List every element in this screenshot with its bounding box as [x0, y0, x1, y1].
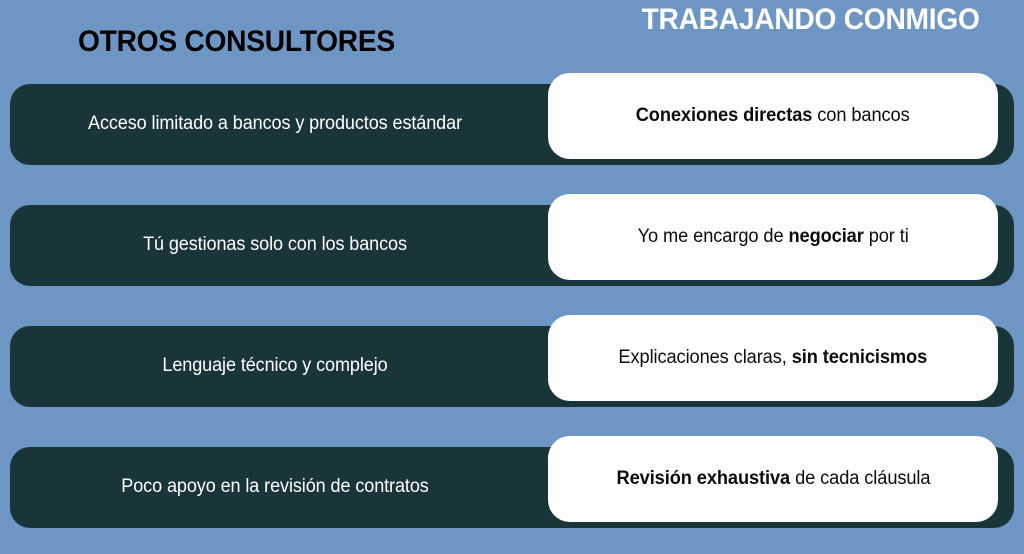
comparison-infographic: OTROS CONSULTORES TRABAJANDO CONMIGO Acc…: [0, 0, 1024, 554]
drawback-text: Acceso limitado a bancos y productos est…: [23, 84, 527, 165]
benefit-text-bold: sin tecnicismos: [792, 347, 927, 368]
benefit-text-regular-lead: Yo me encargo de: [637, 226, 788, 247]
drawback-text: Lenguaje técnico y complejo: [23, 326, 527, 407]
benefit-text-bold: Revisión exhaustiva: [616, 468, 790, 489]
benefit-text: Yo me encargo de negociar por ti: [637, 226, 908, 249]
benefit-text: Conexiones directas con bancos: [636, 105, 910, 128]
benefit-text: Explicaciones claras, sin tecnicismos: [619, 347, 928, 370]
benefit-card: Yo me encargo de negociar por ti: [548, 194, 998, 280]
benefit-text-regular-lead: Explicaciones claras,: [619, 347, 792, 368]
benefit-card: Revisión exhaustiva de cada cláusula: [548, 436, 998, 522]
column-header-otros-consultores: OTROS CONSULTORES: [78, 27, 395, 57]
benefit-text-regular: de cada cláusula: [790, 468, 930, 489]
benefit-card: Explicaciones claras, sin tecnicismos: [548, 315, 998, 401]
benefit-text-bold: Conexiones directas: [636, 105, 813, 126]
benefit-card: Conexiones directas con bancos: [548, 73, 998, 159]
column-header-trabajando-conmigo: TRABAJANDO CONMIGO: [642, 5, 980, 35]
benefit-text-regular: con bancos: [813, 105, 910, 126]
drawback-text: Tú gestionas solo con los bancos: [23, 205, 527, 286]
benefit-text-bold: negociar: [788, 226, 863, 247]
benefit-text: Revisión exhaustiva de cada cláusula: [616, 468, 930, 491]
benefit-text-regular-tail: por ti: [864, 226, 909, 247]
drawback-text: Poco apoyo en la revisión de contratos: [23, 447, 527, 528]
